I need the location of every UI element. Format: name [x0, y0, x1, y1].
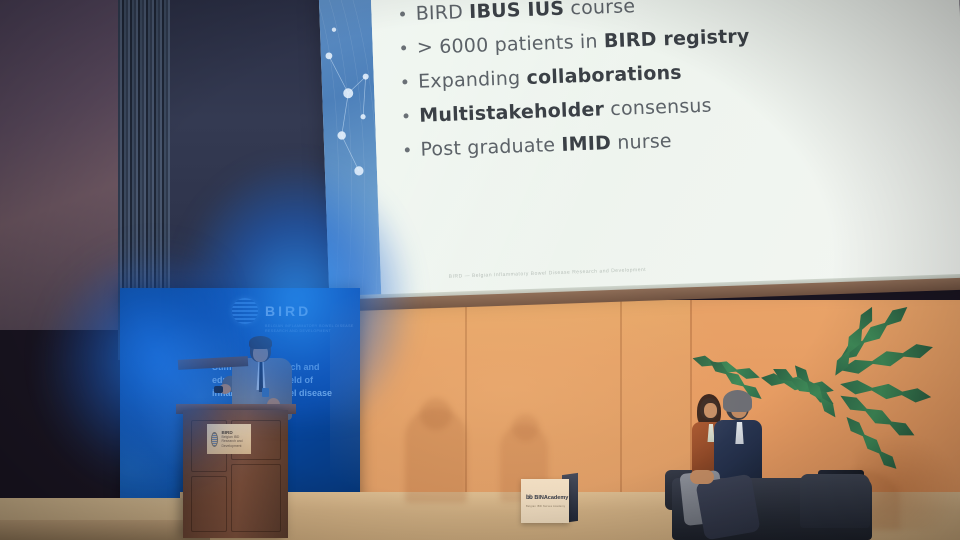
panelist-right-hair [723, 390, 752, 412]
sponsor-box: bb BINAcademy Belgian IBD Nurses Academy [521, 479, 569, 523]
bullet-text: Expanding collaborations [418, 64, 682, 92]
sponsor-name: BINAcademy [534, 495, 568, 501]
conference-stage-photo: •Presented 2 BI•BIRD IBUS IUS course•> 6… [0, 0, 960, 540]
bullet-marker: • [397, 7, 408, 24]
sponsor-mark: bb [526, 495, 532, 501]
slide-bullet: •BIRD IBUS IUS course [397, 0, 957, 24]
sofa-armrest [800, 474, 870, 528]
blue-stage-light [0, 230, 220, 490]
podium-sign-subtitle: Belgian IBD Research and Development [221, 435, 247, 448]
panelist-right-hands [690, 470, 714, 484]
sponsor-subtitle: Belgian IBD Nurses Academy [526, 505, 565, 508]
slide-bullet: •> 6000 patients in BIRD registry [398, 20, 958, 59]
slide-bullet: •Expanding collaborations [400, 54, 960, 93]
silhouette-shadow [405, 408, 467, 503]
bullet-text: Post graduate IMID nurse [420, 132, 672, 160]
bullet-text: Multistakeholder consensus [419, 97, 712, 126]
slide-bullet: •Multistakeholder consensus [401, 88, 960, 127]
bullet-marker: • [398, 41, 409, 58]
bullet-marker: • [400, 75, 411, 92]
bullet-text: > 6000 patients in BIRD registry [417, 27, 750, 58]
stage-edge [0, 520, 210, 540]
bullet-text: BIRD IBUS IUS course [415, 0, 635, 24]
slide-bullet: •Post graduate IMID nurse [402, 122, 960, 161]
panelist-left-face [704, 403, 717, 418]
slide-bullet-list: •Presented 2 BI•BIRD IBUS IUS course•> 6… [396, 0, 960, 175]
